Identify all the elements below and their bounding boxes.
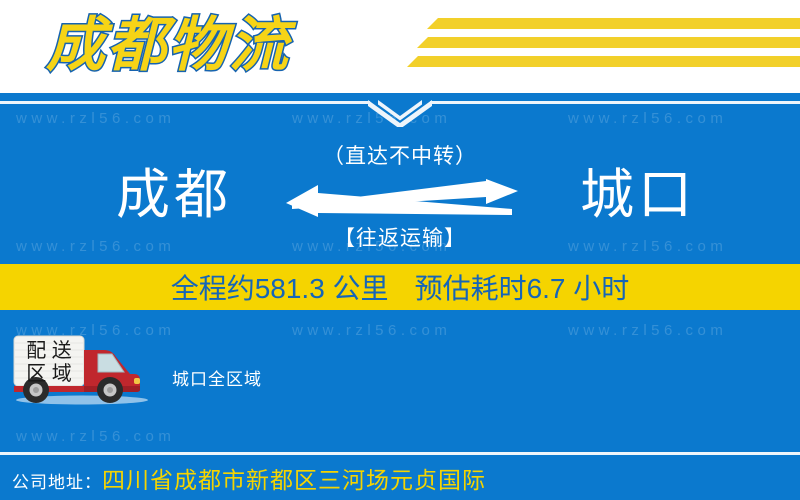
bidirectional-arrow-icon (286, 179, 518, 219)
watermark: www.rzl56.com (568, 238, 727, 255)
decorative-stripe-1 (438, 18, 800, 29)
watermark: www.rzl56.com (16, 238, 175, 255)
brand-logo-text: 成都物流 (46, 2, 290, 88)
company-address-row: 公司地址：四川省成都市新都区三河场元贞国际 (12, 466, 486, 498)
truck-label-line1: 配 送 (26, 339, 72, 362)
divider-segment-left (0, 101, 370, 104)
route-direct-note: （直达不中转） (280, 140, 520, 170)
truck-label-line2: 区 域 (26, 362, 72, 385)
decorative-stripe-3 (418, 56, 800, 67)
trip-duration-text: 预估耗时6.7 小时 (415, 267, 630, 307)
divider-segment-right (430, 101, 800, 104)
route-destination-city: 城口 (528, 163, 748, 227)
watermark: www.rzl56.com (16, 428, 175, 445)
logistics-route-banner: 成都物流 www.rzl56.com www.rzl56.com www.rzl… (0, 0, 800, 500)
watermark: www.rzl56.com (568, 110, 727, 127)
delivery-truck-icon: 配 送 区 域 (8, 330, 156, 406)
route-roundtrip-note: 【往返运输】 (280, 222, 520, 252)
route-origin-city: 成都 (64, 163, 284, 227)
footer-divider (0, 452, 800, 455)
company-address-label: 公司地址： (12, 473, 102, 492)
watermark: www.rzl56.com (568, 322, 727, 339)
trip-distance-text: 全程约581.3 公里 (171, 267, 389, 307)
decorative-stripe-2 (428, 37, 800, 48)
watermark: www.rzl56.com (292, 322, 451, 339)
trip-info-band: 全程约581.3 公里 预估耗时6.7 小时 (0, 264, 800, 310)
chevron-down-icon (368, 99, 432, 127)
delivery-coverage-text: 城口全区域 (172, 365, 262, 390)
company-address-value: 四川省成都市新都区三河场元贞国际 (102, 467, 486, 493)
watermark: www.rzl56.com (16, 110, 175, 127)
banner-header: 成都物流 (0, 0, 800, 93)
